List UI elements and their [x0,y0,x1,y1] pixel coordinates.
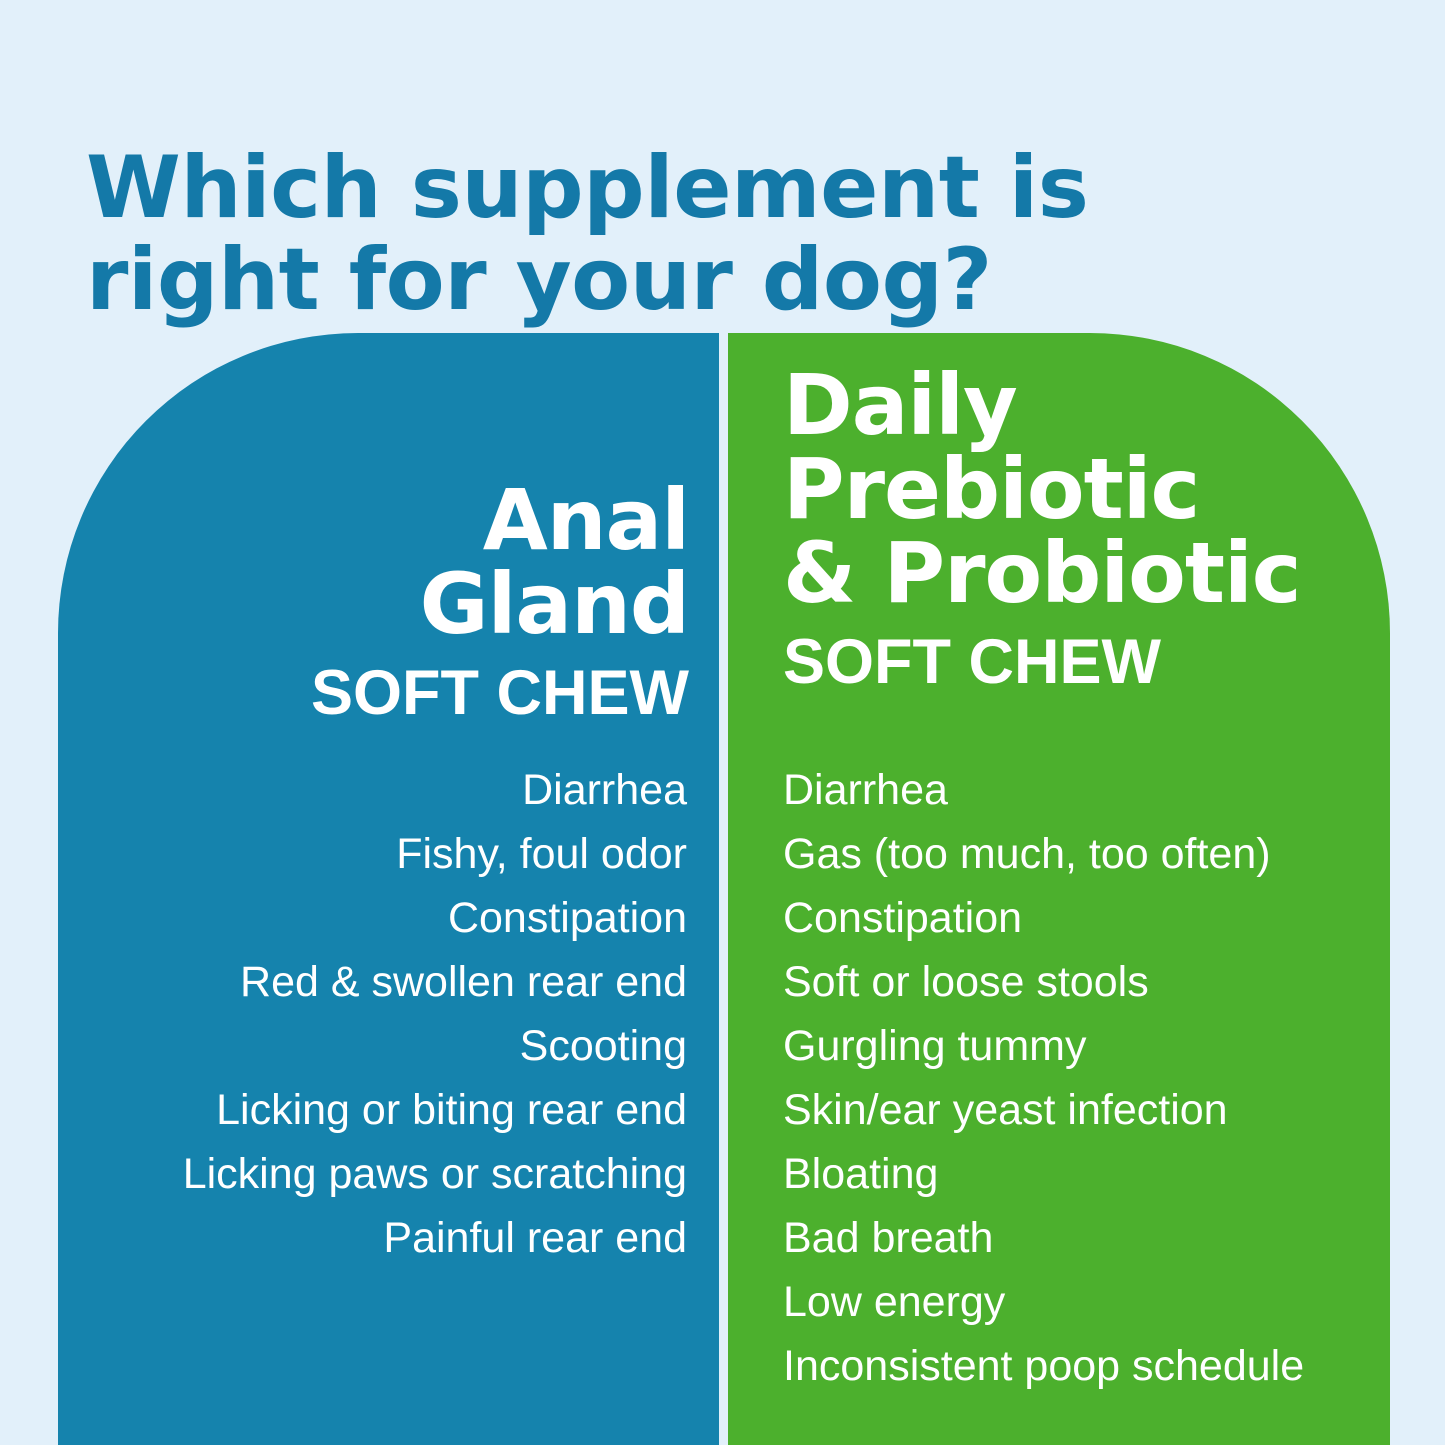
list-item: Low energy [783,1270,1304,1334]
list-item: Constipation [783,886,1304,950]
comparison-panels: Anal Gland SOFT CHEW Diarrhea Fishy, fou… [58,333,1390,1445]
headline-line-1: Which supplement is [86,142,1226,234]
list-item: Red & swollen rear end [183,950,687,1014]
panel-daily-title-line-3: & Probiotic [783,531,1301,615]
panel-daily-prebiotic-probiotic-subtitle: SOFT CHEW [783,631,1301,694]
list-item: Licking paws or scratching [183,1142,687,1206]
headline-line-2: right for your dog? [86,234,1226,326]
list-item: Scooting [183,1014,687,1078]
panel-anal-gland-title: Anal Gland [311,478,689,646]
list-item: Soft or loose stools [783,950,1304,1014]
panel-anal-gland: Anal Gland SOFT CHEW Diarrhea Fishy, fou… [58,333,719,1445]
panel-anal-gland-heading: Anal Gland SOFT CHEW [311,478,689,725]
panel-anal-gland-symptom-list: Diarrhea Fishy, foul odor Constipation R… [183,758,687,1270]
list-item: Gurgling tummy [783,1014,1304,1078]
list-item: Bloating [783,1142,1304,1206]
list-item: Inconsistent poop schedule [783,1334,1304,1398]
panel-daily-prebiotic-probiotic: Daily Prebiotic & Probiotic SOFT CHEW Di… [728,333,1390,1445]
panel-daily-prebiotic-probiotic-title: Daily Prebiotic & Probiotic [783,363,1301,615]
panel-daily-prebiotic-probiotic-symptom-list: Diarrhea Gas (too much, too often) Const… [783,758,1304,1398]
list-item: Fishy, foul odor [183,822,687,886]
panel-divider [719,333,728,1445]
supplement-comparison-infographic: Which supplement is right for your dog? … [0,0,1445,1445]
panel-anal-gland-title-line-2: Gland [311,562,689,646]
list-item: Bad breath [783,1206,1304,1270]
panel-daily-title-line-1: Daily [783,363,1301,447]
list-item: Diarrhea [183,758,687,822]
list-item: Constipation [183,886,687,950]
panel-daily-title-line-2: Prebiotic [783,447,1301,531]
list-item: Gas (too much, too often) [783,822,1304,886]
list-item: Diarrhea [783,758,1304,822]
list-item: Licking or biting rear end [183,1078,687,1142]
list-item: Skin/ear yeast infection [783,1078,1304,1142]
list-item: Painful rear end [183,1206,687,1270]
panel-anal-gland-title-line-1: Anal [311,478,689,562]
panel-daily-prebiotic-probiotic-heading: Daily Prebiotic & Probiotic SOFT CHEW [783,363,1301,694]
panel-anal-gland-subtitle: SOFT CHEW [311,662,689,725]
page-title: Which supplement is right for your dog? [86,142,1226,326]
